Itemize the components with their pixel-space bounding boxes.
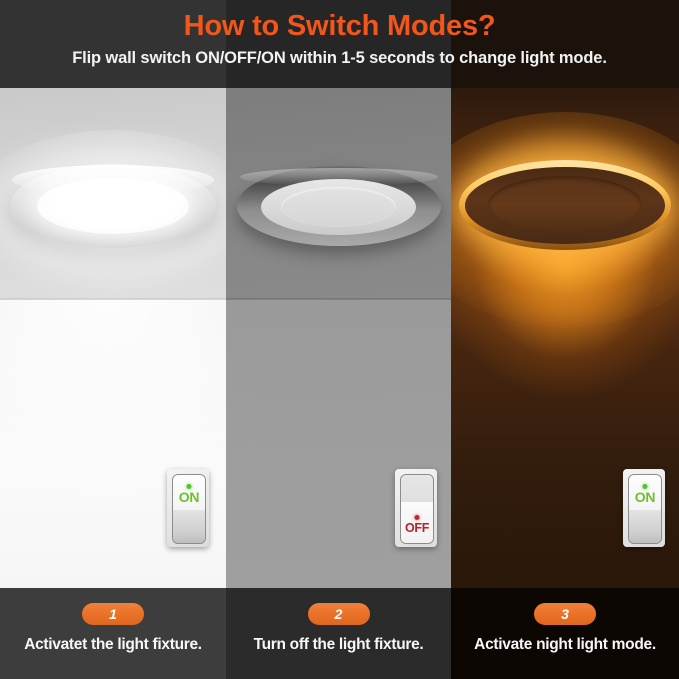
switch-led-indicator-icon-2 [415, 515, 420, 520]
page-subtitle: Flip wall switch ON/OFF/ON within 1-5 se… [72, 49, 607, 68]
ceiling-light-fixture-off-icon [237, 166, 441, 246]
caption-block-3: 3 Activate night light mode. [451, 588, 679, 679]
rocker-bottom-face-1 [173, 510, 205, 543]
fixture-diffuser-lit-1 [37, 178, 189, 233]
switch-rocker-3[interactable]: ON [628, 474, 662, 544]
how-to-switch-modes-poster: How to Switch Modes? Flip wall switch ON… [0, 0, 679, 679]
switch-rocker-2[interactable]: OFF [400, 474, 434, 544]
scene-panel-2: OFF [226, 88, 451, 588]
wall-switch-2[interactable]: OFF [395, 469, 437, 547]
switch-rocker-1[interactable]: ON [172, 474, 206, 544]
step-badge-2: 2 [308, 603, 370, 625]
step-caption-3: Activate night light mode. [474, 636, 656, 654]
scene-panel-1: ON [0, 88, 226, 588]
wall-switch-1[interactable]: ON [167, 469, 209, 547]
ceiling-light-fixture-on-icon [10, 164, 216, 248]
step-caption-1: Activatet the light fixture. [24, 636, 202, 654]
caption-block-2: 2 Turn off the light fixture. [226, 588, 451, 679]
header-banner: How to Switch Modes? Flip wall switch ON… [0, 0, 679, 88]
fixture-inner-disc-3 [488, 176, 642, 233]
rocker-top-face-2 [401, 475, 433, 502]
fixture-inner-disc-2 [281, 187, 395, 227]
switch-state-label-1: ON [173, 489, 205, 505]
step-badge-1: 1 [82, 603, 144, 625]
caption-block-1: 1 Activatet the light fixture. [0, 588, 226, 679]
caption-row: 1 Activatet the light fixture. 2 Turn of… [0, 588, 679, 679]
switch-state-label-2: OFF [401, 521, 433, 535]
step-caption-2: Turn off the light fixture. [254, 636, 424, 654]
scene-row: ON OFF [0, 88, 679, 588]
step-badge-3: 3 [534, 603, 596, 625]
page-title: How to Switch Modes? [184, 9, 496, 44]
switch-state-label-3: ON [629, 489, 661, 505]
rocker-bottom-face-3 [629, 510, 661, 543]
ceiling-light-fixture-nightmode-icon [461, 162, 669, 248]
wall-switch-3[interactable]: ON [623, 469, 665, 547]
header-text-group: How to Switch Modes? Flip wall switch ON… [0, 0, 679, 88]
scene-panel-3: ON [451, 88, 679, 588]
